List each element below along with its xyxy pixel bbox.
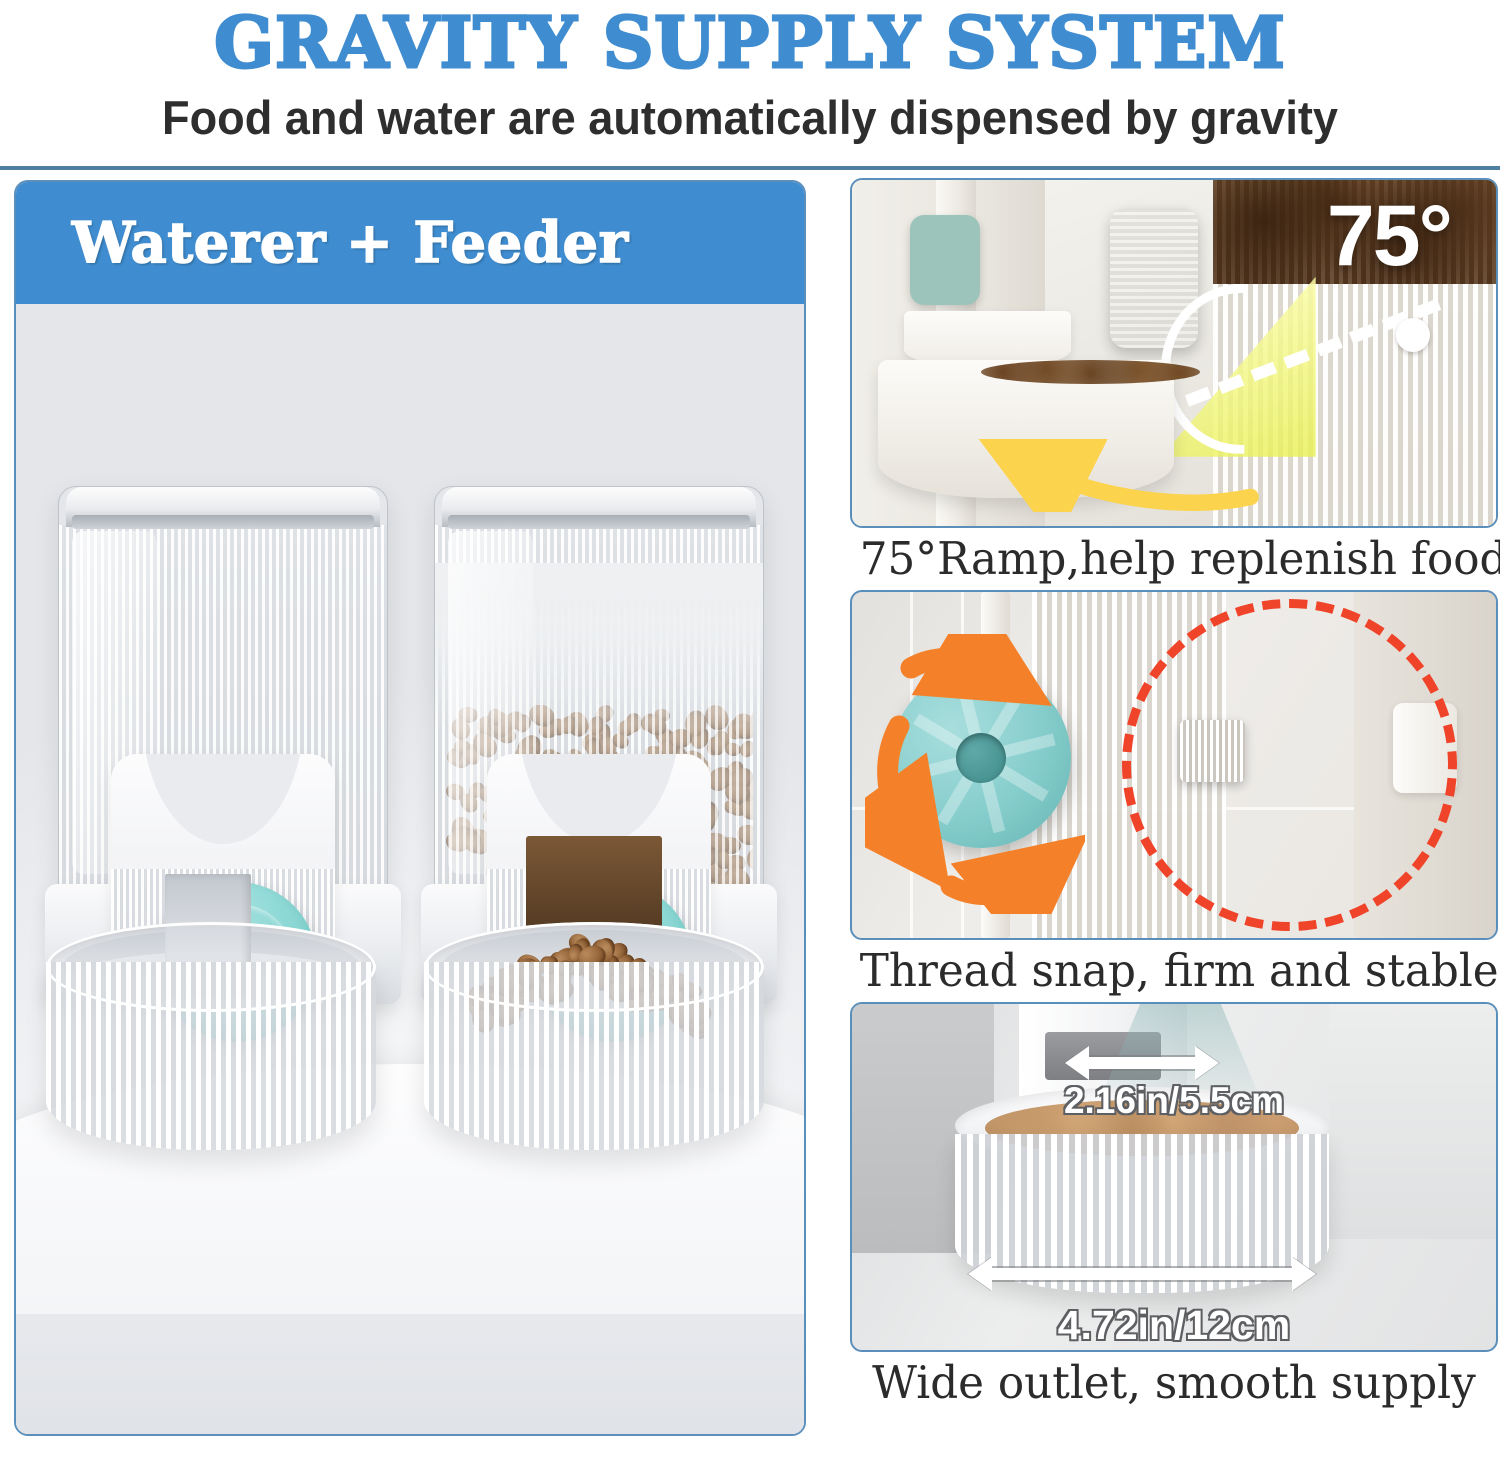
rotation-arrows-icon xyxy=(865,634,1085,914)
arrow-head-left xyxy=(1065,1046,1089,1080)
waterer-feeder-panel: Waterer + Feeder xyxy=(14,180,806,1436)
outlet-width-label: 2.16in/5.5cm xyxy=(1064,1080,1284,1122)
page-header: GRAVITY SUPPLY SYSTEM Food and water are… xyxy=(0,0,1500,168)
tank-rim-inner xyxy=(72,515,374,529)
feature-ramp-caption: 75°Ramp,help replenish food xyxy=(860,528,1489,590)
feature-wide-outlet-image: 2.16in/5.5cm 4.72in/12cm xyxy=(850,1002,1498,1352)
arrow-head-left xyxy=(968,1257,992,1291)
waterer-feeder-header: Waterer + Feeder xyxy=(16,182,804,304)
saddle-notch xyxy=(142,754,304,844)
header-divider xyxy=(0,166,1500,170)
feature-wide-outlet-caption: Wide outlet, smooth supply xyxy=(860,1352,1489,1414)
product-photo xyxy=(16,304,804,1436)
feature-column: 75° 75°Ramp,help replenish food xyxy=(850,178,1498,1414)
waterer-feeder-label: Waterer + Feeder xyxy=(72,210,629,276)
infographic-root: GRAVITY SUPPLY SYSTEM Food and water are… xyxy=(0,0,1500,1462)
page-title: GRAVITY SUPPLY SYSTEM xyxy=(0,2,1500,84)
feature-ramp: 75° 75°Ramp,help replenish food xyxy=(850,178,1498,590)
arrow-head-right xyxy=(1292,1257,1316,1291)
ramp-flow-arrow-icon xyxy=(916,422,1315,512)
feature-thread-snap-image xyxy=(850,590,1498,940)
page-subtitle: Food and water are automatically dispens… xyxy=(30,90,1470,146)
arrow-shaft xyxy=(1081,1057,1204,1069)
feature-thread-snap-caption: Thread snap, firm and stable xyxy=(860,940,1489,1002)
upper-bowl xyxy=(904,311,1071,366)
pedestal-face xyxy=(16,1314,804,1436)
food-bowl xyxy=(424,922,764,1152)
tank-rim-inner xyxy=(448,515,750,529)
water-bowl-lip xyxy=(46,922,376,1012)
right-backdrop xyxy=(1329,1004,1496,1239)
saddle-notch xyxy=(518,754,680,844)
feature-ramp-image: 75° xyxy=(850,178,1498,528)
food-bowl-lip xyxy=(424,922,764,1012)
water-bowl xyxy=(46,922,376,1152)
ramp-bowl-kibble xyxy=(981,360,1200,384)
arrow-head-right xyxy=(1195,1046,1219,1080)
arrow-shaft xyxy=(984,1268,1300,1280)
ramp-angle-label: 75° xyxy=(1327,187,1451,286)
highlight-oval xyxy=(1122,599,1457,931)
feature-thread-snap: Thread snap, firm and stable xyxy=(850,590,1498,1002)
feature-wide-outlet: 2.16in/5.5cm 4.72in/12cm Wide outlet, sm… xyxy=(850,1002,1498,1414)
green-mount-cap xyxy=(910,215,980,305)
bowl-diameter-label: 4.72in/12cm xyxy=(1058,1302,1291,1349)
